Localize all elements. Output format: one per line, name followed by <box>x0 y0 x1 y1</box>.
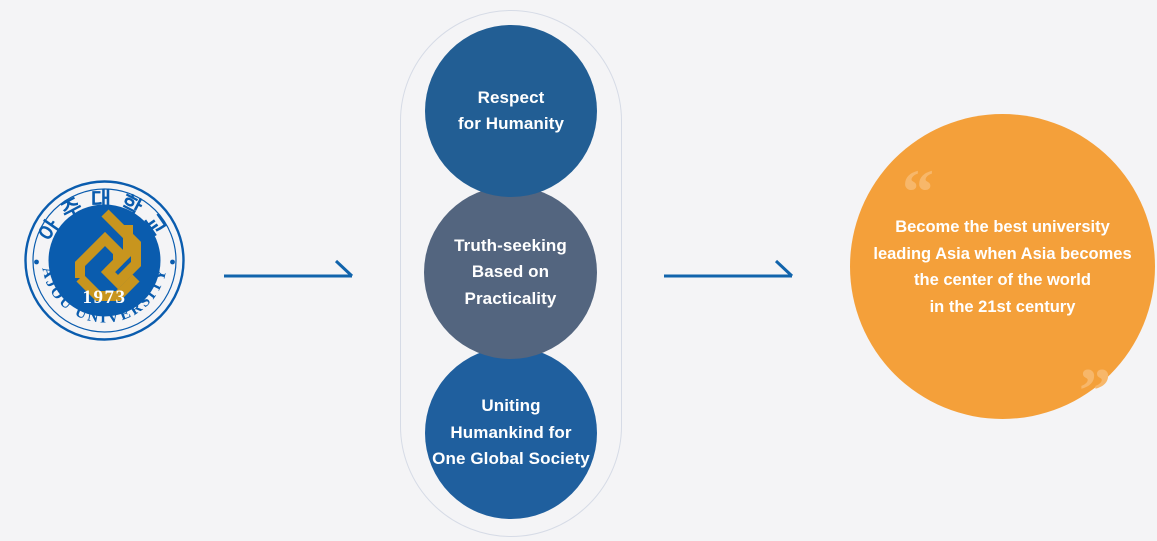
vision-and-values-diagram: 아주대학교 AJOU UNIVERSITY 1973 <box>0 0 1157 541</box>
vision-statement[interactable]: “ Become the best university leading Asi… <box>850 114 1155 419</box>
core-value-truth[interactable]: Truth-seeking Based on Practicality <box>424 186 597 359</box>
core-value-uniting[interactable]: Uniting Humankind for One Global Society <box>425 347 597 519</box>
core-value-truth-label: Truth-seeking Based on Practicality <box>448 233 573 312</box>
quote-close-icon: ” <box>1079 359 1111 423</box>
vision-statement-text: Become the best university leading Asia … <box>850 214 1155 321</box>
arrow-values-to-vision <box>664 255 794 285</box>
core-value-respect[interactable]: Respect for Humanity <box>425 25 597 197</box>
core-value-respect-label: Respect for Humanity <box>452 85 570 138</box>
emblem-founded-year: 1973 <box>83 287 127 308</box>
core-value-uniting-label: Uniting Humankind for One Global Society <box>426 393 596 472</box>
arrow-emblem-to-values <box>224 255 354 285</box>
ajou-university-emblem: 아주대학교 AJOU UNIVERSITY 1973 <box>22 178 187 343</box>
